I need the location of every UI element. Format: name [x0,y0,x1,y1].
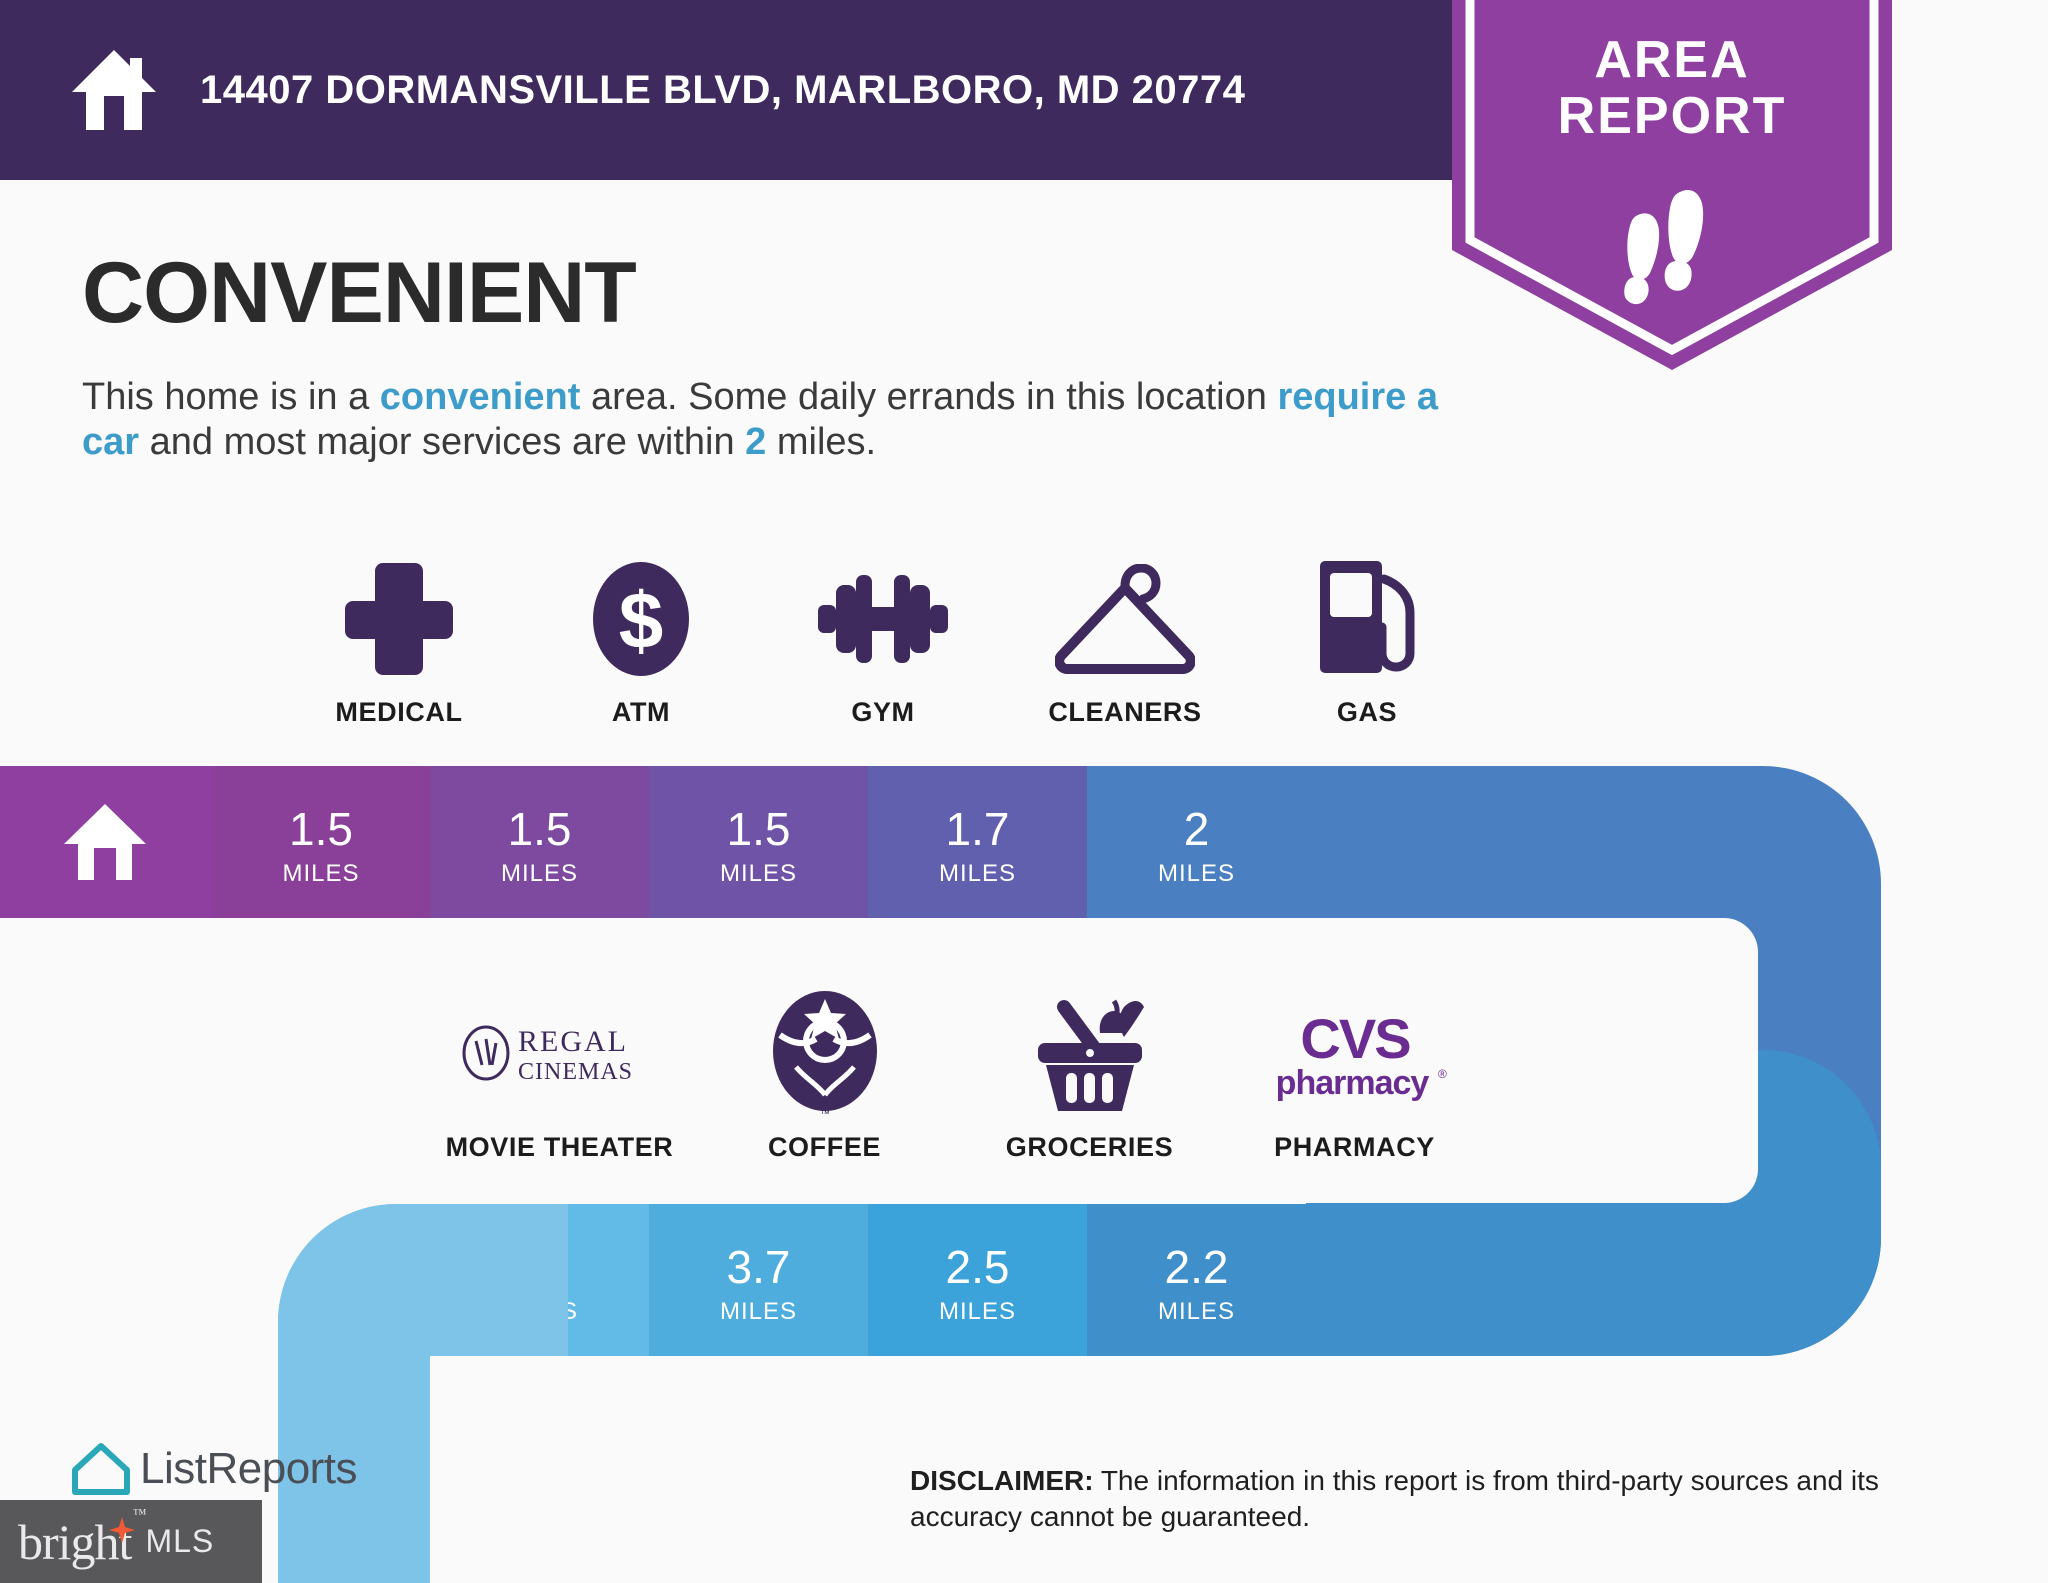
badge-line-1: AREA [1452,32,1892,88]
svg-text:®: ® [1438,1067,1447,1081]
distance-cell-gym: 1.5 MILES [649,766,868,918]
home-icon [68,44,160,136]
amenity-pharmacy: CVS pharmacy ® PHARMACY [1222,990,1487,1163]
svg-text:CINEMAS: CINEMAS [518,1059,633,1085]
distance-value: 2.5 [868,1244,1087,1290]
clothes-hanger-icon [1055,555,1195,683]
distance-unit: MILES [649,860,868,888]
bright-wordmark: bright™ [18,1513,131,1571]
property-address: 14407 DORMANSVILLE BLVD, MARLBORO, MD 20… [200,68,1245,113]
distance-unit: MILES [430,860,649,888]
cvs-pharmacy-logo: CVS pharmacy ® [1260,990,1450,1118]
amenity-label: CLEANERS [1048,697,1201,728]
distance-unit: MILES [868,860,1087,888]
disclaimer-label: DISCLAIMER: [910,1465,1094,1496]
svg-text:™: ™ [820,1109,830,1119]
amenity-label: MOVIE THEATER [446,1132,674,1163]
amenity-coffee: ™ COFFEE [692,990,957,1163]
medical-cross-icon [345,555,453,683]
svg-text:REGAL: REGAL [518,1025,628,1058]
blurb-highlight-convenient: convenient [380,376,581,418]
blurb-part-2: area. Some daily errands in this locatio… [580,376,1277,418]
amenity-cleaners: CLEANERS [1004,555,1246,728]
amenity-label: GAS [1337,697,1397,728]
ribbon-elbow-left-top [278,1204,568,1356]
distance-cell-gas: 2 MILES [1087,766,1306,918]
page-header: 14407 DORMANSVILLE BLVD, MARLBORO, MD 20… [0,0,1452,180]
page-title: CONVENIENT [82,244,636,343]
distance-cell-pharmacy: 2.2 MILES [1087,1204,1306,1356]
amenity-label: MEDICAL [335,697,462,728]
blurb-highlight-miles: 2 [745,421,766,463]
amenity-label: GROCERIES [1006,1132,1173,1163]
distance-unit: MILES [212,860,430,888]
distance-cell-groceries: 2.5 MILES [868,1204,1087,1356]
grocery-basket-icon [1028,990,1152,1118]
svg-text:CVS: CVS [1300,1007,1410,1070]
amenity-medical: MEDICAL [278,555,520,728]
distance-value: 1.5 [649,806,868,852]
amenity-row-primary: MEDICAL $ ATM GYM [278,555,1488,728]
gas-pump-icon [1312,555,1422,683]
bright-mls-badge: bright™ MLS [0,1500,262,1583]
dumbbell-icon [818,555,948,683]
svg-text:pharmacy: pharmacy [1275,1064,1429,1102]
distance-value: 3.7 [649,1244,868,1290]
distance-unit: MILES [1087,860,1306,888]
area-report-badge: AREA REPORT [1452,0,1892,370]
badge-line-2: REPORT [1452,88,1892,144]
distance-cell-medical: 1.5 MILES [212,766,430,918]
amenity-label: COFFEE [768,1132,881,1163]
amenity-groceries: GROCERIES [957,990,1222,1163]
listreports-wordmark: ListReports [140,1444,357,1494]
svg-text:$: $ [619,576,664,665]
amenity-label: GYM [851,697,914,728]
distance-unit: MILES [649,1298,868,1326]
distance-unit: MILES [868,1298,1087,1326]
blurb-part-3: and most major services are within [139,421,745,463]
mls-text: MLS [145,1523,214,1560]
amenity-label: PHARMACY [1274,1132,1435,1163]
badge-title: AREA REPORT [1452,32,1892,144]
amenity-gas: GAS [1246,555,1488,728]
summary-text: This home is in a convenient area. Some … [82,375,1442,465]
distance-unit: MILES [1087,1298,1306,1326]
distance-value: 1.5 [212,806,430,852]
distance-cell-atm: 1.5 MILES [430,766,649,918]
distance-value: 2.2 [1087,1244,1306,1290]
distance-value: 1.7 [868,806,1087,852]
amenity-label: ATM [612,697,670,728]
trademark-symbol: ™ [133,1507,146,1523]
dollar-coin-icon: $ [591,555,691,683]
amenity-row-secondary: REGAL CINEMAS MOVIE THEATER ™ COFFEE [427,990,1487,1163]
ribbon-home-start [0,766,212,918]
starbucks-logo: ™ [766,990,884,1118]
listreports-house-icon [70,1440,132,1498]
disclaimer: DISCLAIMER: The information in this repo… [910,1463,1990,1535]
home-icon [62,802,148,882]
regal-cinemas-logo: REGAL CINEMAS [460,990,660,1118]
listreports-logo: ListReports [70,1440,357,1498]
amenity-movie-theater: REGAL CINEMAS MOVIE THEATER [427,990,692,1163]
distance-value: 1.5 [430,806,649,852]
amenity-atm: $ ATM [520,555,762,728]
distance-value: 2 [1087,806,1306,852]
amenity-gym: GYM [762,555,1004,728]
blurb-part-1: This home is in a [82,376,380,418]
blurb-part-4: miles. [766,421,876,463]
distance-cell-coffee: 3.7 MILES [649,1204,868,1356]
distance-cell-cleaners: 1.7 MILES [868,766,1087,918]
